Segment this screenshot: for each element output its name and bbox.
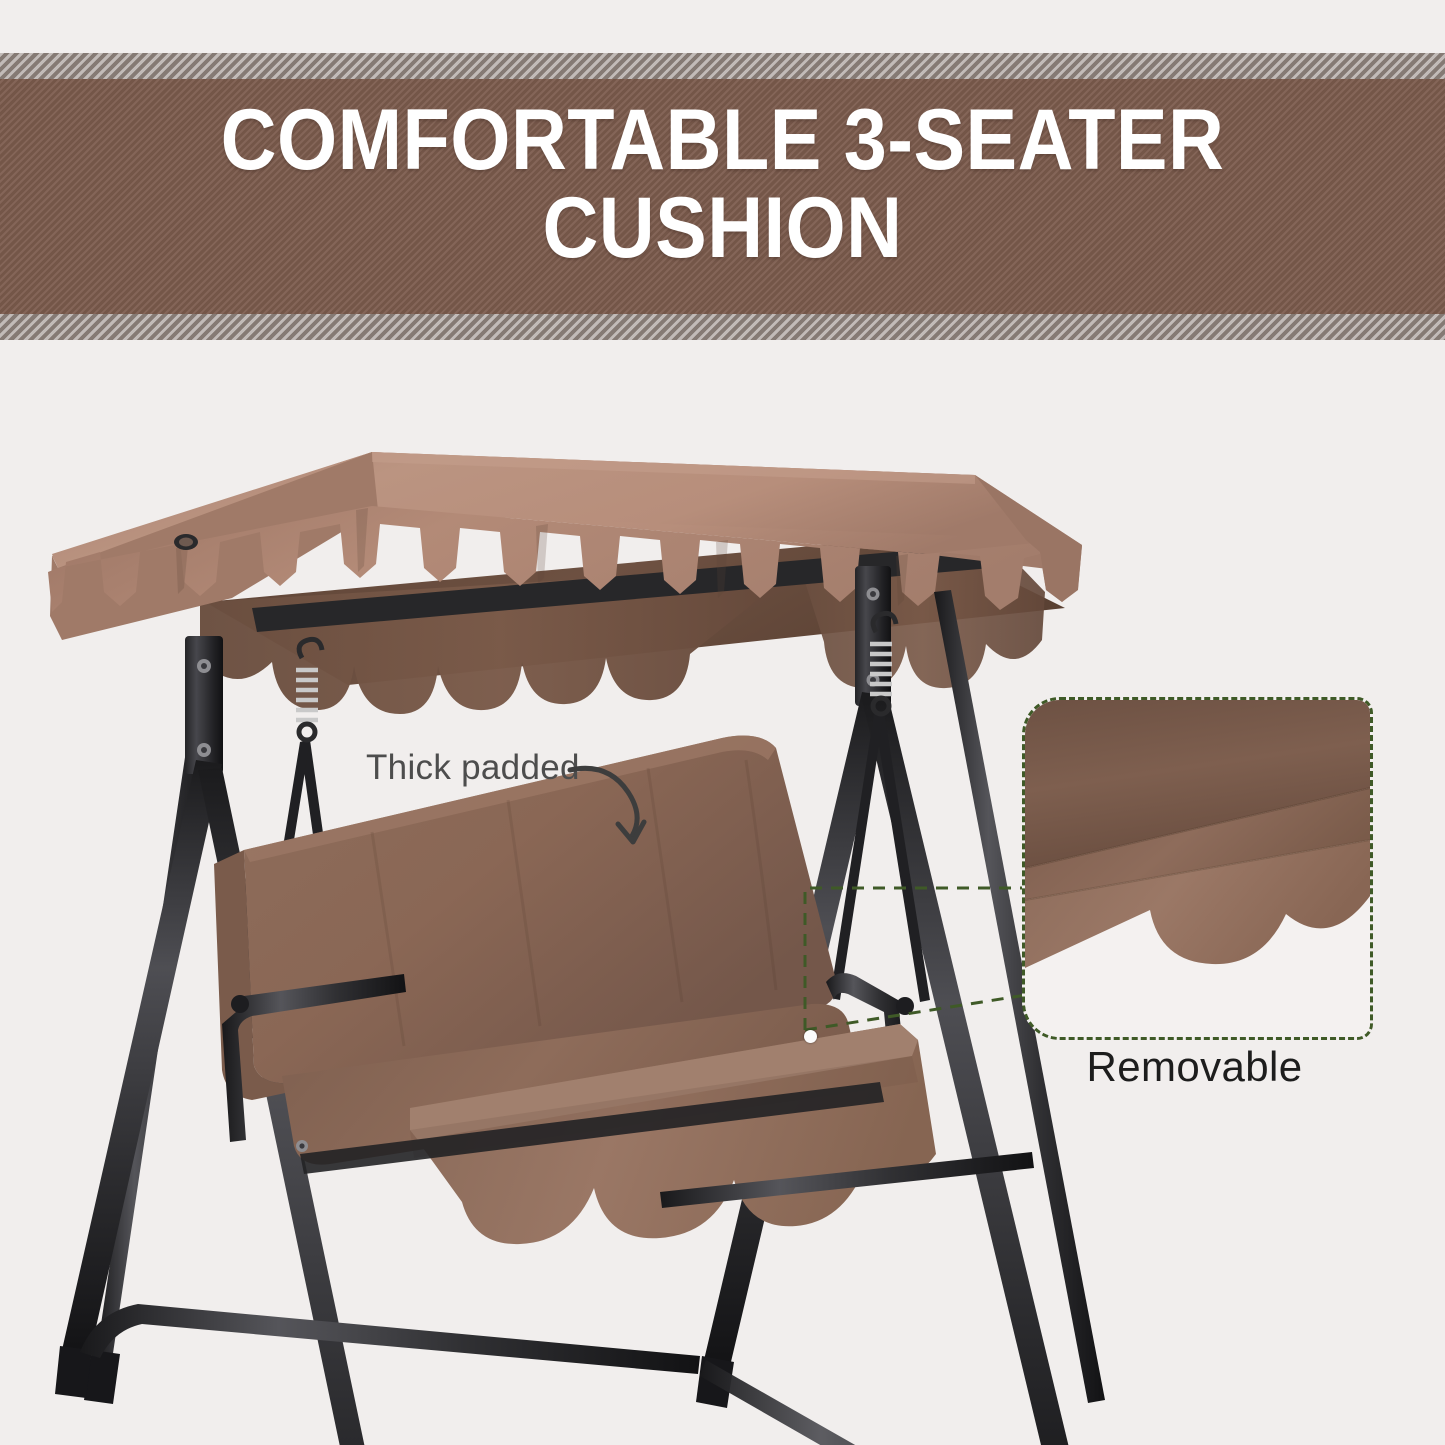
header-banner: COMFORTABLE 3-SEATER CUSHION (0, 53, 1445, 340)
banner-bottom-edge-stripe (0, 314, 1445, 340)
removable-label: Removable (1022, 1043, 1367, 1091)
armrest-left-cap (231, 995, 249, 1013)
thick-padded-arrow-icon (566, 752, 656, 848)
page-title: COMFORTABLE 3-SEATER CUSHION (72, 97, 1373, 272)
callout-connector-lines (795, 880, 1045, 1065)
callout-anchor-dot (804, 1030, 817, 1043)
product-marketing-image: COMFORTABLE 3-SEATER CUSHION (0, 0, 1445, 1445)
banner-top-edge-stripe (0, 53, 1445, 79)
removable-detail-callout (1022, 697, 1373, 1040)
leg-front-left (62, 760, 222, 1354)
base-bar-left (80, 1304, 700, 1374)
base-bar-right (700, 1360, 1078, 1445)
thick-padded-label: Thick padded (366, 748, 580, 788)
frame-base-bars (80, 1304, 1078, 1445)
